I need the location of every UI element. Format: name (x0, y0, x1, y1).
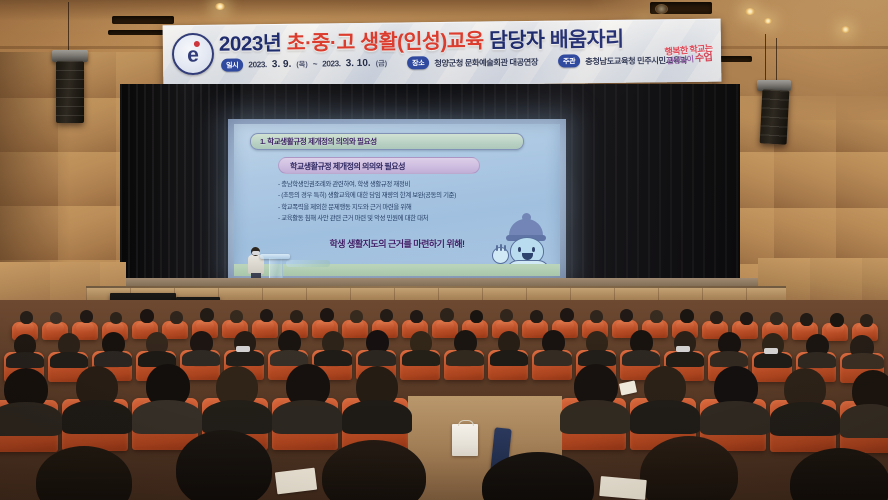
slide-subheader-pill: 학교생활규정 제개정의 의의와 필요성 (278, 157, 480, 174)
shopping-bag-handle (458, 420, 474, 426)
banner-slogan: 행복한 학교는 선생님이 수업 (664, 44, 713, 68)
place-chip: 장소 (407, 56, 429, 69)
slogan-line-2: 선생님이 수업 (665, 53, 714, 67)
date-paren-1: (목) (296, 59, 308, 69)
date-big-2: 3. 10. (346, 58, 371, 69)
ceiling-vent-left (112, 16, 174, 24)
host-chip: 주관 (558, 54, 580, 67)
stage-curtain-left (120, 84, 240, 282)
date-text-1: 2023. (248, 60, 267, 69)
ceiling-spotlight-5 (841, 26, 850, 33)
shopping-bag (452, 424, 478, 456)
ceiling-spotlight-1 (215, 3, 225, 10)
banner-title-year: 2023년 (219, 32, 282, 56)
banner-title: 2023년 초·중·고 생활(인성)교육 담당자 배움자리 (219, 27, 624, 57)
slogan-line-2-text: 선생님이 (666, 55, 694, 66)
date-text-2: 2023. (322, 59, 341, 68)
place-text: 청양군청 문화예술회관 대공연장 (434, 55, 538, 68)
line-array-speaker-right (760, 89, 790, 144)
slide-bullet: - 학교폭력을 제외한 문제행동 지도와 근거 마련을 위해 (278, 202, 550, 213)
auditorium-photo: e 2023년 초·중·고 생활(인성)교육 담당자 배움자리 일시 2023.… (0, 0, 888, 500)
institution-logo-icon: e (172, 33, 215, 76)
speaker-wire-left (68, 2, 69, 52)
slide-footer-text: 학생 생활지도의 근거를 마련하기 위해! (330, 237, 465, 250)
slide-bullet: - (초등의 경우 특히) 생활교육에 대한 담임 재량의 한계 보완(공동의 … (278, 190, 550, 201)
ceiling-spotlight-3 (745, 8, 755, 15)
event-banner: e 2023년 초·중·고 생활(인성)교육 담당자 배움자리 일시 2023.… (163, 19, 722, 89)
slide-header-bar: 1. 학교생활규정 제개정의 의의와 필요성 (250, 133, 524, 150)
date-big-1: 3. 9. (272, 59, 292, 70)
banner-title-tail: 배움자리 (550, 28, 624, 52)
slide-bullet: - 충남학생인권조례와 관련하여, 학생 생활규정 재정비 (278, 179, 550, 190)
banner-title-blue: 담당자 (489, 29, 545, 53)
slide-subheader-text: 학교생활규정 제개정의 의의와 필요성 (290, 161, 405, 172)
speaker-wire-right-b (776, 38, 777, 82)
slogan-accent: 수업 (695, 53, 713, 65)
banner-title-red: 초·중·고 생활(인성)교육 (286, 29, 483, 54)
line-array-speaker-left (56, 61, 84, 123)
slide-header-text: 1. 학교생활규정 제개정의 의의와 필요성 (260, 136, 377, 147)
date-chip: 일시 (221, 58, 243, 71)
ceiling-beam-left (108, 30, 170, 35)
date-paren-2: (금) (376, 58, 388, 68)
date-dash: ~ (313, 60, 318, 69)
ceiling-spotlight-4 (764, 18, 772, 24)
speaker-wire-right-a (765, 34, 766, 80)
ceiling-spotlight-6 (655, 4, 668, 14)
